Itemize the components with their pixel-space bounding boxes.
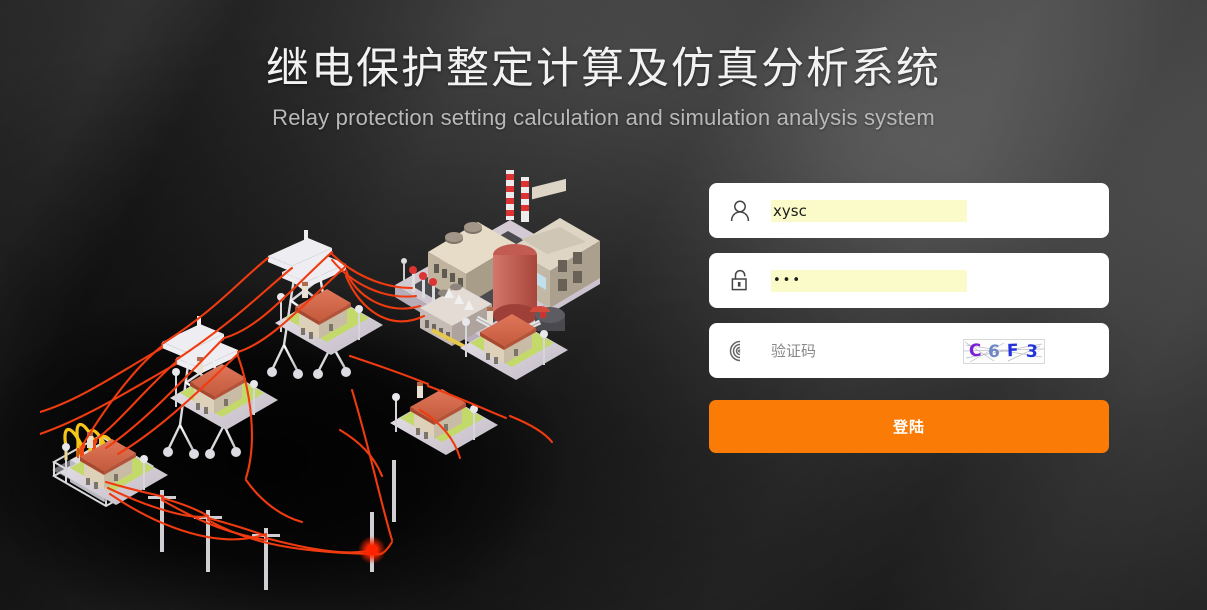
lock-icon [709, 253, 771, 308]
captcha-char-0: C [969, 343, 982, 361]
page-subtitle-english: Relay protection setting calculation and… [0, 105, 1207, 131]
user-icon [709, 183, 771, 238]
captcha-image[interactable]: C 6 F 3 [963, 339, 1045, 364]
chimney-group [506, 170, 529, 222]
utility-poles [148, 460, 396, 590]
captcha-placeholder: 验证码 [771, 340, 816, 361]
captcha-field[interactable]: 验证码 C 6 F 3 [709, 323, 1109, 378]
login-button[interactable]: 登陆 [709, 400, 1109, 453]
power-grid-illustration [40, 160, 640, 610]
page-title-chinese: 继电保护整定计算及仿真分析系统 [0, 34, 1207, 96]
fault-marker [358, 536, 386, 564]
captcha-char-2: F [1007, 343, 1019, 360]
page-header: 继电保护整定计算及仿真分析系统 Relay protection setting… [0, 0, 1207, 131]
password-field[interactable]: ••• [709, 253, 1109, 308]
password-input[interactable]: ••• [771, 270, 967, 292]
username-field[interactable]: xysc [709, 183, 1109, 238]
login-form: xysc ••• 验证码 [709, 183, 1109, 453]
captcha-char-3: 3 [1026, 344, 1039, 362]
captcha-char-1: 6 [988, 344, 1000, 361]
username-input[interactable]: xysc [771, 200, 967, 222]
fingerprint-icon [709, 323, 771, 378]
